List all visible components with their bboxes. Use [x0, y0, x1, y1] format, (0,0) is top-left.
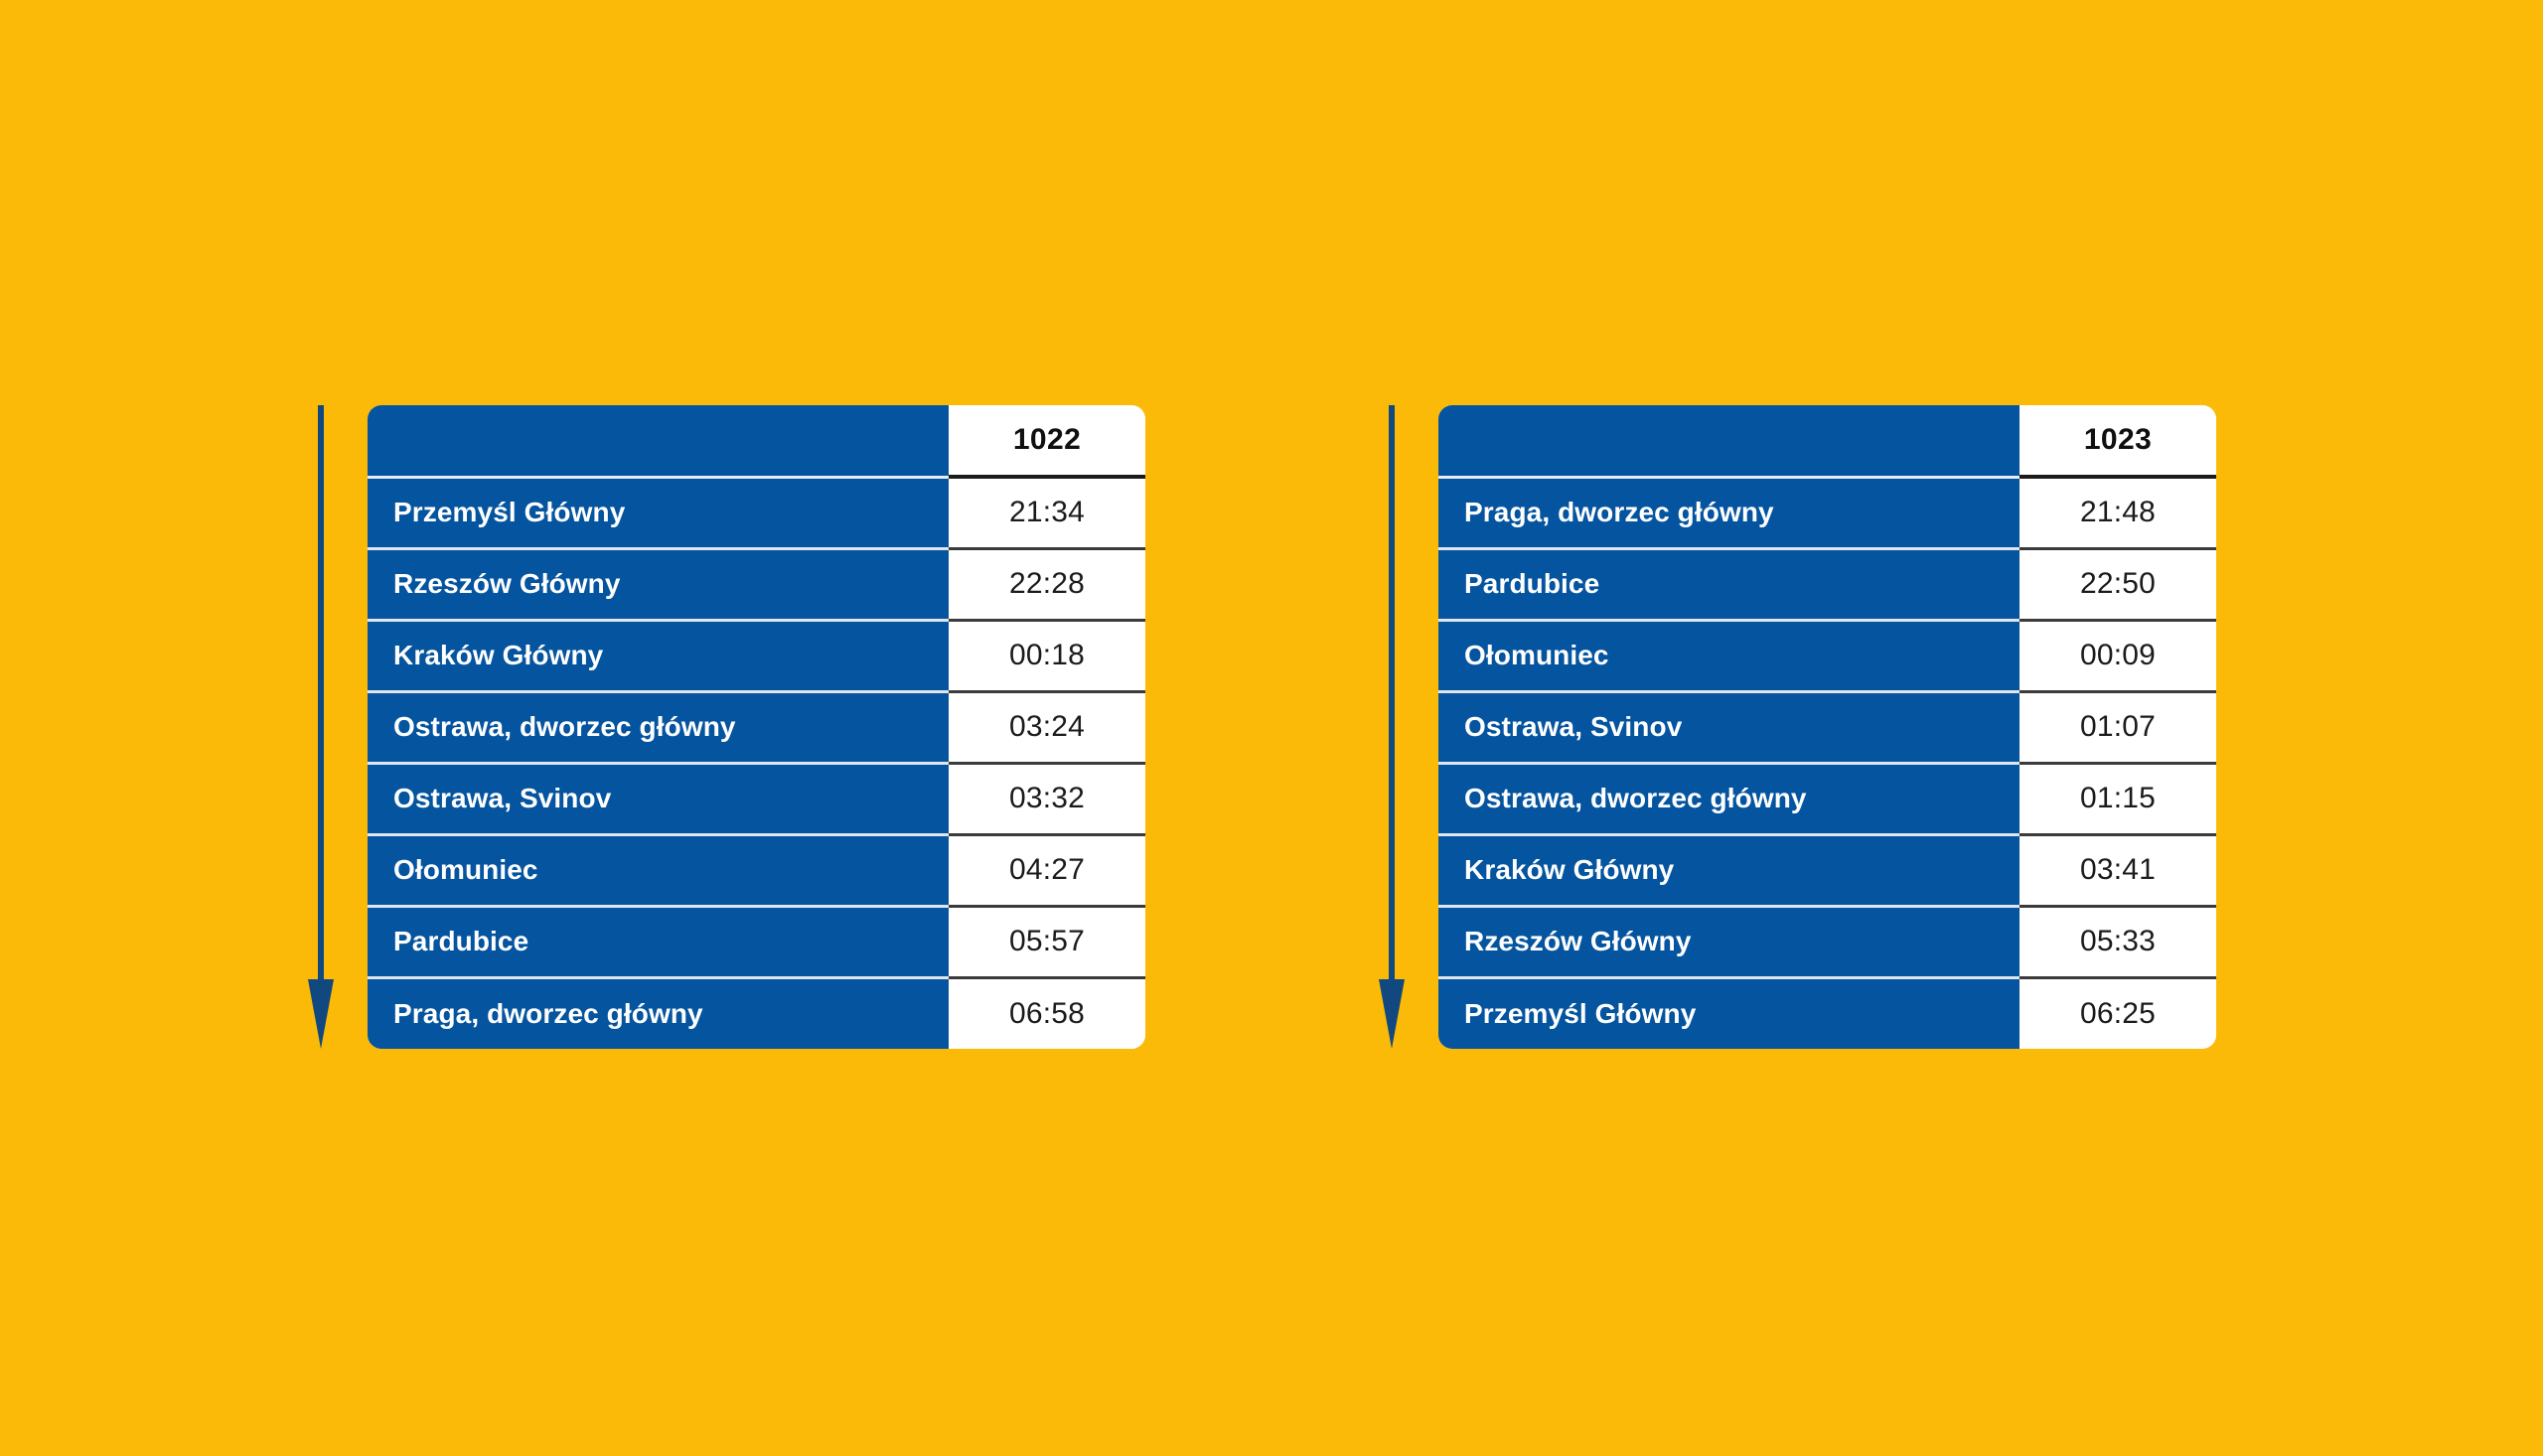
station-time: 22:28: [949, 548, 1145, 620]
station-time: 22:50: [2019, 548, 2216, 620]
station-name: Przemyśl Główny: [368, 477, 949, 548]
station-name: Ostrawa, Svinov: [1438, 691, 2019, 763]
table-row[interactable]: Kraków Główny 03:41: [1438, 834, 2216, 906]
table-row[interactable]: Kraków Główny 00:18: [368, 620, 1145, 691]
station-name: Ołomuniec: [368, 834, 949, 906]
station-time: 03:41: [2019, 834, 2216, 906]
header-station-cell: [368, 405, 949, 477]
station-name: Ołomuniec: [1438, 620, 2019, 691]
station-name: Praga, dworzec główny: [1438, 477, 2019, 548]
station-name: Praga, dworzec główny: [368, 977, 949, 1049]
station-time: 21:34: [949, 477, 1145, 548]
table-row[interactable]: Ołomuniec 04:27: [368, 834, 1145, 906]
station-time: 03:32: [949, 763, 1145, 834]
station-time: 06:25: [2019, 977, 2216, 1049]
station-name: Przemyśl Główny: [1438, 977, 2019, 1049]
header-station-cell: [1438, 405, 2019, 477]
station-time: 21:48: [2019, 477, 2216, 548]
station-time: 03:24: [949, 691, 1145, 763]
station-time: 00:09: [2019, 620, 2216, 691]
station-name: Kraków Główny: [1438, 834, 2019, 906]
table-row[interactable]: Pardubice 22:50: [1438, 548, 2216, 620]
station-name: Kraków Główny: [368, 620, 949, 691]
station-time: 05:33: [2019, 906, 2216, 977]
station-time: 00:18: [949, 620, 1145, 691]
station-time: 06:58: [949, 977, 1145, 1049]
table-row[interactable]: Rzeszów Główny 22:28: [368, 548, 1145, 620]
timetable-1022: 1022 Przemyśl Główny 21:34 Rzeszów Główn…: [368, 405, 1145, 1049]
train-number-header: 1023: [2019, 405, 2216, 477]
station-time: 01:07: [2019, 691, 2216, 763]
table-row[interactable]: Ostrawa, Svinov 03:32: [368, 763, 1145, 834]
table-row[interactable]: Pardubice 05:57: [368, 906, 1145, 977]
table-header-row: 1023: [1438, 405, 2216, 477]
table-row[interactable]: Ostrawa, dworzec główny 03:24: [368, 691, 1145, 763]
table-row[interactable]: Ostrawa, Svinov 01:07: [1438, 691, 2216, 763]
station-time: 05:57: [949, 906, 1145, 977]
station-name: Rzeszów Główny: [368, 548, 949, 620]
train-number-header: 1022: [949, 405, 1145, 477]
station-time: 04:27: [949, 834, 1145, 906]
table-row[interactable]: Ostrawa, dworzec główny 01:15: [1438, 763, 2216, 834]
station-name: Ostrawa, dworzec główny: [368, 691, 949, 763]
station-name: Ostrawa, dworzec główny: [1438, 763, 2019, 834]
table-header-row: 1022: [368, 405, 1145, 477]
station-name: Pardubice: [368, 906, 949, 977]
station-name: Pardubice: [1438, 548, 2019, 620]
table-row[interactable]: Praga, dworzec główny 21:48: [1438, 477, 2216, 548]
table-row[interactable]: Przemyśl Główny 21:34: [368, 477, 1145, 548]
station-time: 01:15: [2019, 763, 2216, 834]
table-row[interactable]: Praga, dworzec główny 06:58: [368, 977, 1145, 1049]
table-row[interactable]: Rzeszów Główny 05:33: [1438, 906, 2216, 977]
timetable-board: 1022 Przemyśl Główny 21:34 Rzeszów Główn…: [0, 0, 2543, 1456]
timetable-1023: 1023 Praga, dworzec główny 21:48 Pardubi…: [1438, 405, 2216, 1049]
station-name: Ostrawa, Svinov: [368, 763, 949, 834]
station-name: Rzeszów Główny: [1438, 906, 2019, 977]
down-arrow-icon: [1379, 405, 1405, 1051]
down-arrow-icon: [308, 405, 334, 1051]
table-row[interactable]: Ołomuniec 00:09: [1438, 620, 2216, 691]
table-row[interactable]: Przemyśl Główny 06:25: [1438, 977, 2216, 1049]
